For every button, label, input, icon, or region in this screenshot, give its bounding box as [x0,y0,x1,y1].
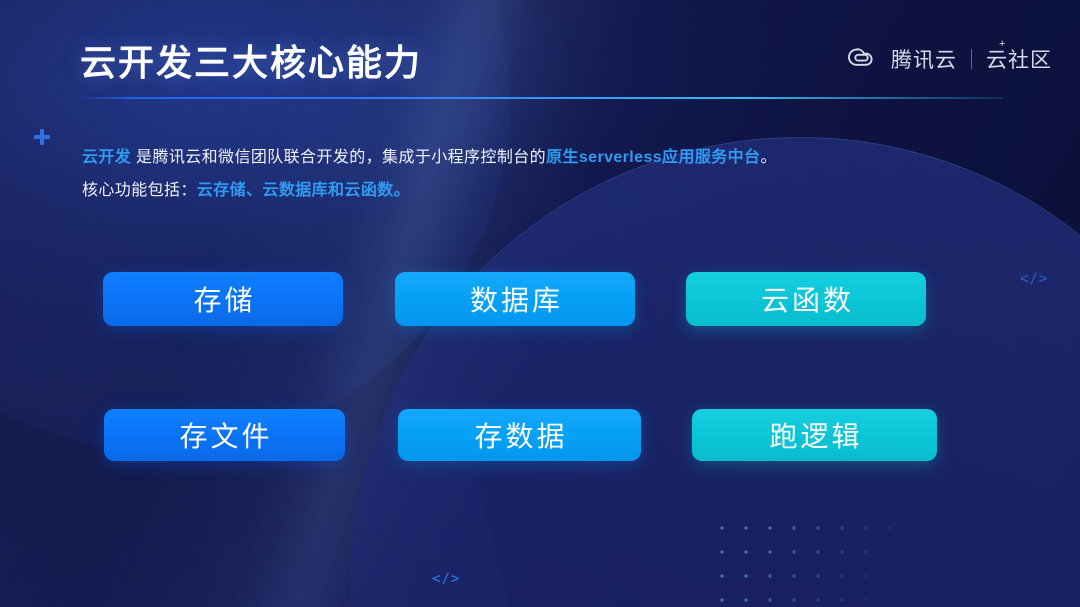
capability-pill-store-file[interactable]: 存文件 [104,409,345,461]
plus-decor-icon [34,129,50,145]
capability-pill-storage[interactable]: 存储 [103,272,343,326]
code-brackets-icon-bottom: </> [432,571,460,587]
capability-grid: 存储 数据库 云函数 存文件 存数据 跑逻辑 [0,0,1080,607]
slide-root: 云开发三大核心能力 腾讯云 + 云社区 云开发 是腾讯云和微信团队联合开发的，集… [0,0,1080,607]
capability-pill-function[interactable]: 云函数 [686,272,926,326]
capability-pill-store-data[interactable]: 存数据 [398,409,641,461]
code-brackets-icon-right: </> [1020,271,1048,287]
capability-pill-database[interactable]: 数据库 [395,272,635,326]
capability-pill-run-logic[interactable]: 跑逻辑 [692,409,937,461]
